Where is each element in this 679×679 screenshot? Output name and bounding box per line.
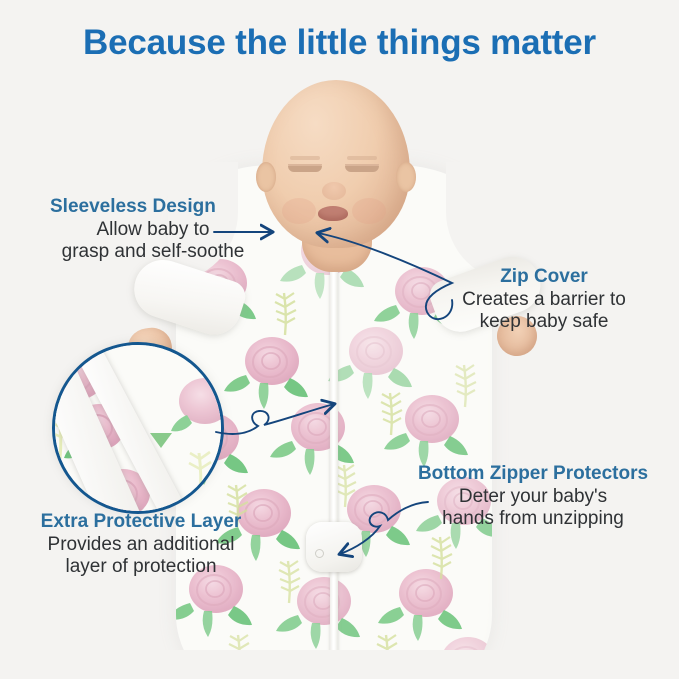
- infographic-canvas: Because the little things matter: [0, 0, 679, 679]
- leaf-accent-icon: [150, 433, 172, 448]
- callout-body-line2: grasp and self-soothe: [22, 241, 278, 263]
- page-title: Because the little things matter: [0, 23, 679, 63]
- callout-heading: Zip Cover: [428, 266, 660, 289]
- callout-zip-cover: Zip Cover Creates a barrier to keep baby…: [428, 266, 660, 334]
- baby-nose: [322, 182, 346, 200]
- callout-heading: Bottom Zipper Protectors: [404, 463, 662, 486]
- callout-extra-protective-layer: Extra Protective Layer Provides an addit…: [12, 511, 270, 579]
- baby-cheek-right: [352, 198, 386, 224]
- callout-heading: Extra Protective Layer: [12, 511, 270, 534]
- baby-ear-right: [396, 162, 416, 192]
- callout-bottom-zipper-protectors: Bottom Zipper Protectors Deter your baby…: [404, 463, 662, 531]
- callout-body-line2: keep baby safe: [428, 311, 660, 333]
- callout-body-line2: hands from unzipping: [404, 508, 662, 530]
- callout-body-line1: Allow baby to: [22, 219, 278, 241]
- baby-brow-right: [347, 156, 377, 160]
- callout-body-line2: layer of protection: [12, 556, 270, 578]
- callout-heading: Sleeveless Design: [22, 196, 278, 219]
- center-zipper: [330, 238, 338, 650]
- baby-ear-left: [256, 162, 276, 192]
- bottom-zipper-protector: [306, 522, 362, 572]
- baby-eye-left-closed: [288, 166, 322, 172]
- extra-layer-magnifier-circle: [52, 342, 224, 514]
- callout-body-line1: Provides an additional: [12, 534, 270, 556]
- baby-cheek-left: [282, 198, 316, 224]
- callout-body-line1: Deter your baby's: [404, 486, 662, 508]
- baby-eye-right-closed: [345, 166, 379, 172]
- magnifier-content: [55, 345, 221, 511]
- callout-sleeveless-design: Sleeveless Design Allow baby to grasp an…: [22, 196, 278, 264]
- callout-body-line1: Creates a barrier to: [428, 289, 660, 311]
- baby-brow-left: [290, 156, 320, 160]
- baby-mouth: [318, 206, 348, 221]
- baby-head: [262, 80, 410, 248]
